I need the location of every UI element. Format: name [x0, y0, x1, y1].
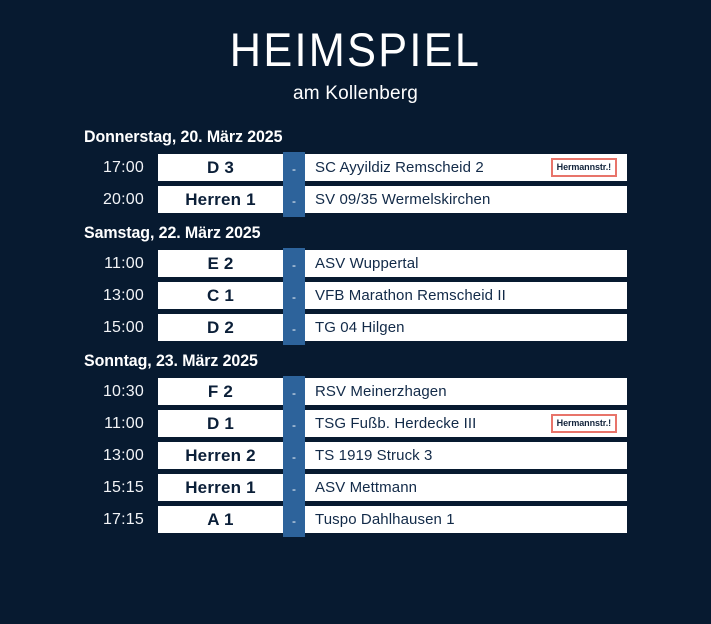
match-row[interactable]: 11:00E 2-ASV Wuppertal — [84, 250, 627, 277]
page-title: HEIMSPIEL — [28, 26, 682, 73]
match-time: 11:00 — [84, 410, 158, 437]
match-card[interactable]: Herren 1-SV 09/35 Wermelskirchen — [158, 186, 627, 213]
match-time: 20:00 — [84, 186, 158, 213]
home-team: E 2 — [158, 250, 283, 277]
versus-separator: - — [283, 280, 305, 313]
match-card[interactable]: E 2-ASV Wuppertal — [158, 250, 627, 277]
home-team: Herren 2 — [158, 442, 283, 469]
match-time: 11:00 — [84, 250, 158, 277]
match-time: 13:00 — [84, 442, 158, 469]
guest-team: ASV Wuppertal — [315, 255, 619, 272]
guest-team-cell: SV 09/35 Wermelskirchen — [305, 186, 627, 213]
page-subtitle: am Kollenberg — [0, 83, 711, 105]
home-team: Herren 1 — [158, 186, 283, 213]
home-team: D 1 — [158, 410, 283, 437]
guest-team: ASV Mettmann — [315, 479, 619, 496]
guest-team: VFB Marathon Remscheid II — [315, 287, 619, 304]
home-team: A 1 — [158, 506, 283, 533]
guest-team: TSG Fußb. Herdecke III — [315, 415, 551, 432]
versus-separator: - — [283, 248, 305, 281]
guest-team: TS 1919 Struck 3 — [315, 447, 619, 464]
day-header: Sonntag, 23. März 2025 — [84, 351, 594, 371]
day-block: Samstag, 22. März 202511:00E 2-ASV Wuppe… — [84, 223, 627, 341]
guest-team-cell: SC Ayyildiz Remscheid 2Hermannstr.! — [305, 154, 627, 181]
match-row[interactable]: 15:00D 2-TG 04 Hilgen — [84, 314, 627, 341]
guest-team: Tuspo Dahlhausen 1 — [315, 511, 619, 528]
versus-separator: - — [283, 408, 305, 441]
match-card[interactable]: A 1-Tuspo Dahlhausen 1 — [158, 506, 627, 533]
match-time: 10:30 — [84, 378, 158, 405]
match-schedule: Donnerstag, 20. März 202517:00D 3-SC Ayy… — [0, 127, 711, 533]
home-team: D 3 — [158, 154, 283, 181]
match-card[interactable]: D 2-TG 04 Hilgen — [158, 314, 627, 341]
match-card[interactable]: F 2-RSV Meinerzhagen — [158, 378, 627, 405]
versus-separator: - — [283, 440, 305, 473]
match-row[interactable]: 20:00Herren 1-SV 09/35 Wermelskirchen — [84, 186, 627, 213]
day-block: Donnerstag, 20. März 202517:00D 3-SC Ayy… — [84, 127, 627, 213]
home-team: F 2 — [158, 378, 283, 405]
match-row[interactable]: 13:00C 1-VFB Marathon Remscheid II — [84, 282, 627, 309]
match-time: 17:00 — [84, 154, 158, 181]
guest-team-cell: RSV Meinerzhagen — [305, 378, 627, 405]
match-row[interactable]: 15:15Herren 1-ASV Mettmann — [84, 474, 627, 501]
guest-team: SC Ayyildiz Remscheid 2 — [315, 159, 551, 176]
guest-team-cell: TS 1919 Struck 3 — [305, 442, 627, 469]
guest-team: TG 04 Hilgen — [315, 319, 619, 336]
venue-badge: Hermannstr.! — [551, 414, 617, 433]
match-row[interactable]: 17:00D 3-SC Ayyildiz Remscheid 2Hermanns… — [84, 154, 627, 181]
guest-team-cell: TG 04 Hilgen — [305, 314, 627, 341]
day-block: Sonntag, 23. März 202510:30F 2-RSV Meine… — [84, 351, 627, 533]
match-card[interactable]: D 3-SC Ayyildiz Remscheid 2Hermannstr.! — [158, 154, 627, 181]
home-team: D 2 — [158, 314, 283, 341]
versus-separator: - — [283, 184, 305, 217]
match-time: 13:00 — [84, 282, 158, 309]
day-header: Donnerstag, 20. März 2025 — [84, 127, 594, 147]
match-row[interactable]: 10:30F 2-RSV Meinerzhagen — [84, 378, 627, 405]
guest-team-cell: ASV Mettmann — [305, 474, 627, 501]
page-header: HEIMSPIEL am Kollenberg — [0, 0, 711, 105]
match-time: 17:15 — [84, 506, 158, 533]
home-team: C 1 — [158, 282, 283, 309]
match-card[interactable]: C 1-VFB Marathon Remscheid II — [158, 282, 627, 309]
versus-separator: - — [283, 504, 305, 537]
versus-separator: - — [283, 472, 305, 505]
match-row[interactable]: 17:15A 1-Tuspo Dahlhausen 1 — [84, 506, 627, 533]
guest-team-cell: TSG Fußb. Herdecke IIIHermannstr.! — [305, 410, 627, 437]
match-time: 15:00 — [84, 314, 158, 341]
day-header: Samstag, 22. März 2025 — [84, 223, 594, 243]
match-row[interactable]: 11:00D 1-TSG Fußb. Herdecke IIIHermannst… — [84, 410, 627, 437]
match-card[interactable]: D 1-TSG Fußb. Herdecke IIIHermannstr.! — [158, 410, 627, 437]
versus-separator: - — [283, 376, 305, 409]
guest-team-cell: ASV Wuppertal — [305, 250, 627, 277]
versus-separator: - — [283, 152, 305, 185]
venue-badge: Hermannstr.! — [551, 158, 617, 177]
guest-team: SV 09/35 Wermelskirchen — [315, 191, 619, 208]
match-time: 15:15 — [84, 474, 158, 501]
match-card[interactable]: Herren 1-ASV Mettmann — [158, 474, 627, 501]
match-row[interactable]: 13:00Herren 2-TS 1919 Struck 3 — [84, 442, 627, 469]
guest-team-cell: VFB Marathon Remscheid II — [305, 282, 627, 309]
versus-separator: - — [283, 312, 305, 345]
home-team: Herren 1 — [158, 474, 283, 501]
guest-team: RSV Meinerzhagen — [315, 383, 619, 400]
guest-team-cell: Tuspo Dahlhausen 1 — [305, 506, 627, 533]
match-card[interactable]: Herren 2-TS 1919 Struck 3 — [158, 442, 627, 469]
